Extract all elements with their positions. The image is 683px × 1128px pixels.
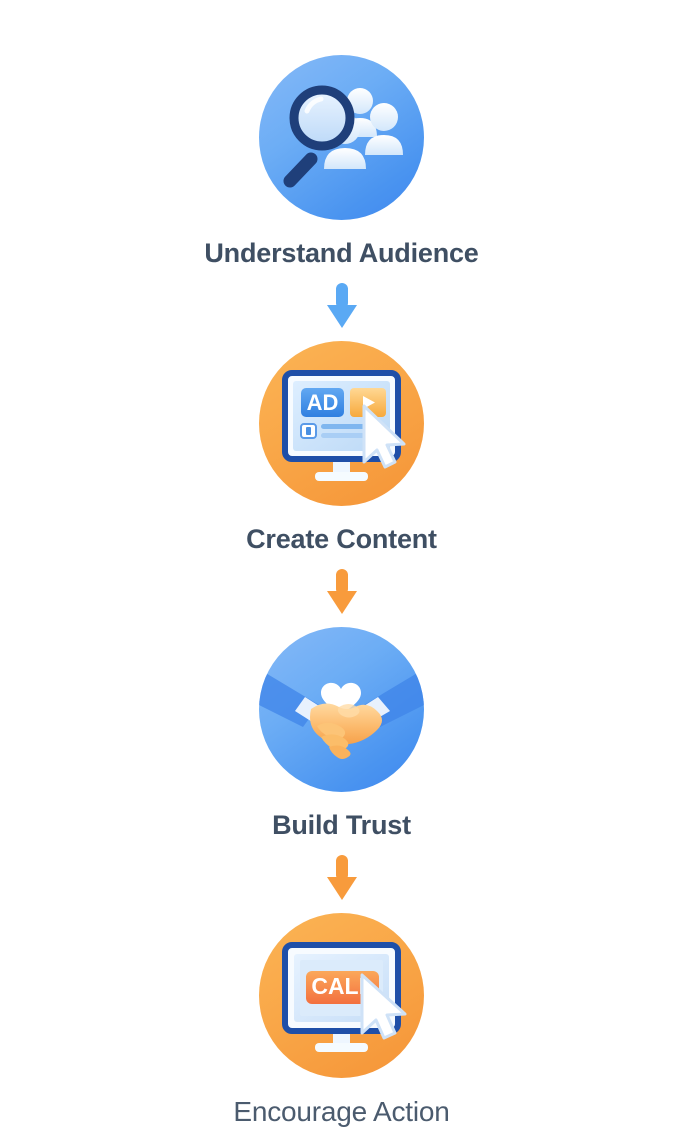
create-content-label: Create Content [246,524,437,555]
monitor-ad-cursor-icon: AD [259,341,424,506]
build-trust-badge [259,627,424,792]
step-understand-audience: Understand Audience [204,55,478,269]
monitor-call-cursor-icon: CALL [259,913,424,1078]
arrow-down-icon [325,855,359,901]
process-flow-diagram: Understand Audience [0,0,683,1024]
understand-audience-badge [259,55,424,220]
build-trust-label: Build Trust [272,810,411,841]
encourage-action-label: Encourage Action [233,1096,449,1128]
step-create-content: AD Create Content [246,341,437,555]
arrow-down-icon [325,283,359,329]
connector-arrow-1 [325,283,359,329]
step-encourage-action: CALL Encourage Action [233,913,449,1128]
connector-arrow-2 [325,569,359,615]
create-content-badge: AD [259,341,424,506]
encourage-action-badge: CALL [259,913,424,1078]
arrow-down-icon [325,569,359,615]
ad-screen-text: AD [307,390,339,415]
handshake-heart-icon [259,627,424,792]
magnifier-people-icon [259,55,424,220]
understand-audience-label: Understand Audience [204,238,478,269]
step-build-trust: Build Trust [259,627,424,841]
connector-arrow-3 [325,855,359,901]
